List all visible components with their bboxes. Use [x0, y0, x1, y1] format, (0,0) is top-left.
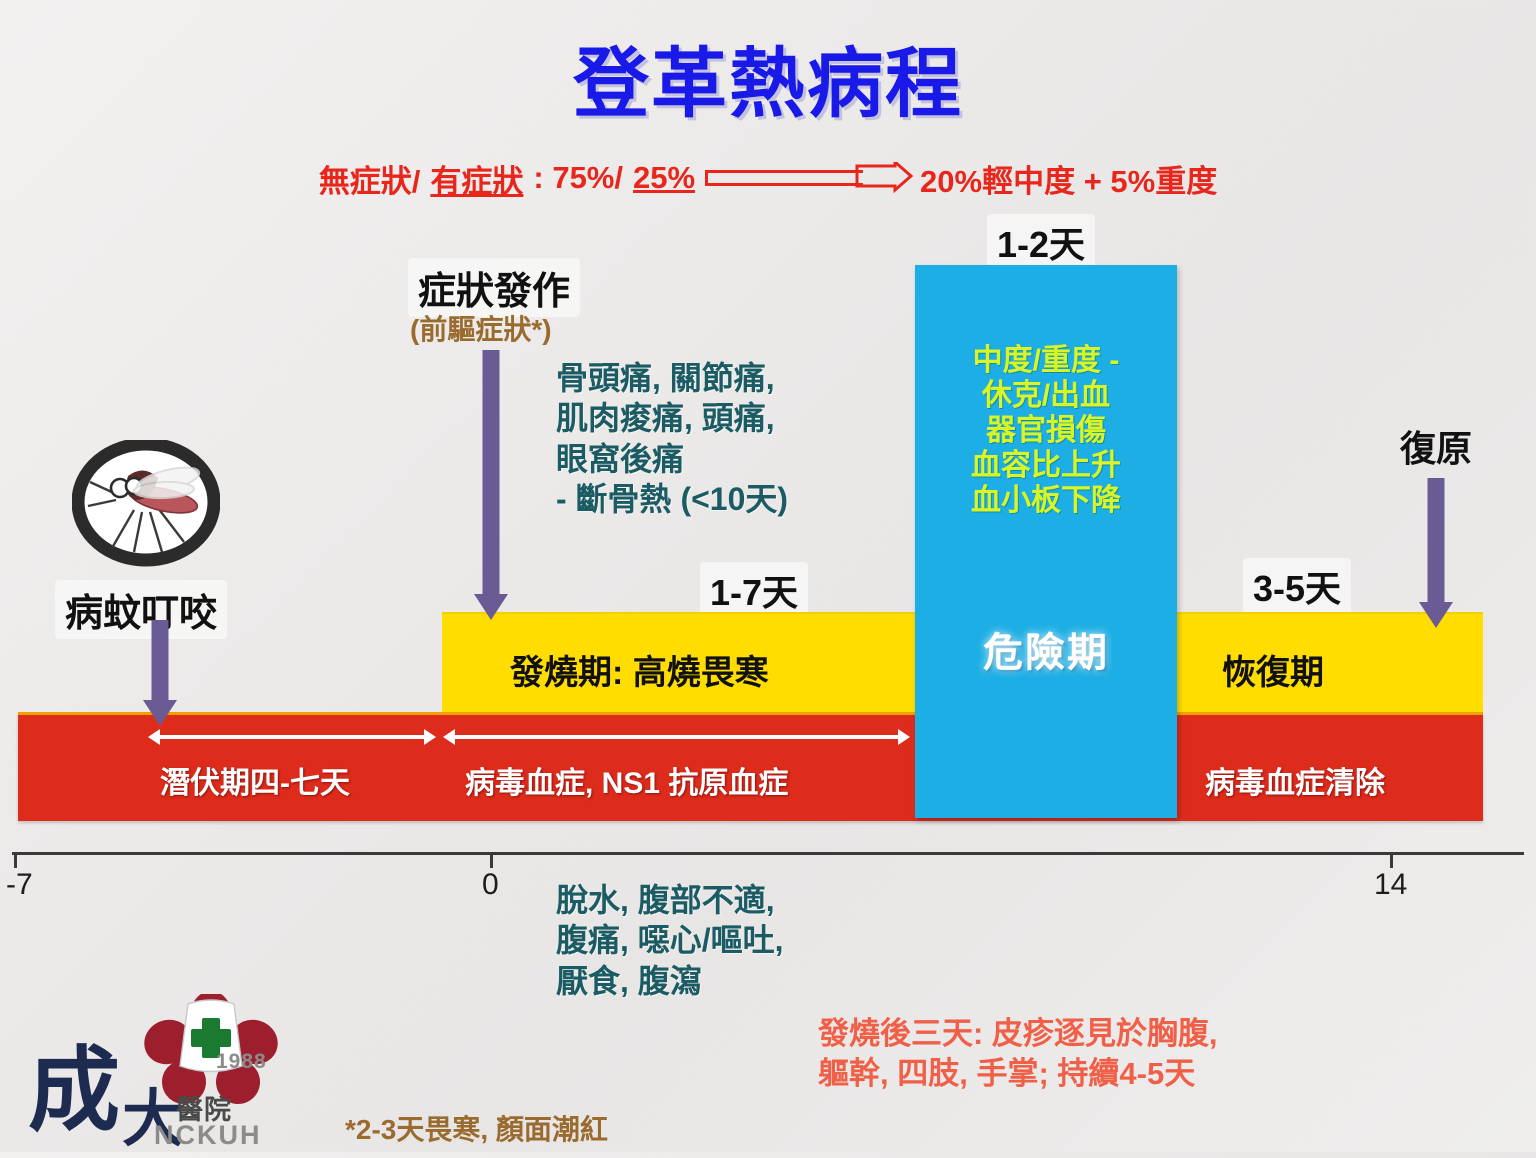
axis-label--7: -7 [6, 868, 33, 902]
ratio-text: : 75%/ [533, 160, 623, 196]
logo-year: 1988 [216, 1050, 267, 1074]
right-arrow-outline-icon [705, 164, 910, 192]
duration-febrile: 1-7天 [700, 562, 808, 618]
severity-outcome-label: 20%輕中度 + 5%重度 [920, 156, 1217, 201]
viremia-clearance-label: 病毒血症清除 [1205, 758, 1385, 802]
febrile-symptoms-text: 骨頭痛, 關節痛, 肌肉痠痛, 頭痛, 眼窩後痛 - 斷骨熱 (<10天) [556, 358, 788, 519]
duration-recovery: 3-5天 [1243, 558, 1351, 614]
prodrome-footnote: *2-3天畏寒, 顏面潮紅 [345, 1108, 608, 1148]
axis-tick-14 [1390, 852, 1393, 868]
axis-label-0: 0 [482, 868, 499, 902]
viremia-ns1-label: 病毒血症, NS1 抗原血症 [465, 758, 788, 802]
incubation-span-arrow-icon [148, 728, 436, 746]
critical-symptoms-text: 中度/重度 - 休克/出血 器官損傷 血容比上升 血小板下降 [971, 343, 1121, 518]
febrile-phase-label: 發燒期: 高燒畏寒 [510, 645, 769, 694]
axis-tick-0 [490, 852, 493, 868]
symptomatic-percent: 25% [633, 160, 695, 196]
viremia-span-arrow-icon [443, 728, 910, 746]
critical-phase-box: 中度/重度 - 休克/出血 器官損傷 血容比上升 血小板下降 危險期 [915, 265, 1177, 818]
duration-critical: 1-2天 [987, 214, 1095, 270]
onset-arrow-icon [471, 350, 511, 622]
prodrome-label: (前驅症狀*) [410, 308, 552, 348]
asymptomatic-label: 無症狀/ [319, 156, 421, 201]
gastro-symptoms-text: 脫水, 腹部不適, 腹痛, 噁心/嘔吐, 厭食, 腹瀉 [556, 880, 784, 1001]
arrow-head-shape [855, 162, 913, 194]
nckuh-logo: 成 大 1988 醫院 NCKUH [28, 1002, 288, 1148]
recovery-phase-label: 恢復期 [1222, 645, 1324, 694]
incubation-period-label: 潛伏期四-七天 [160, 758, 350, 802]
recovery-arrow-icon [1416, 478, 1456, 630]
timeline-axis [12, 852, 1524, 855]
prevalence-summary: 無症狀/有症狀: 75%/25% 20%輕中度 + 5%重度 [0, 155, 1536, 201]
symptomatic-label: 有症狀 [430, 156, 523, 201]
recovery-label: 復原 [1400, 420, 1472, 472]
bite-arrow-icon [140, 620, 180, 728]
critical-phase-label: 危險期 [983, 620, 1109, 678]
logo-char-cheng: 成 [28, 1016, 120, 1149]
mosquito-icon [72, 440, 220, 570]
page-title: 登革熱病程 [0, 22, 1536, 132]
logo-english-label: NCKUH [154, 1120, 262, 1151]
axis-label-14: 14 [1374, 868, 1407, 902]
axis-tick--7 [14, 852, 17, 868]
rash-note-text: 發燒後三天: 皮疹逐見於胸腹, 軀幹, 四肢, 手掌; 持續4-5天 [818, 1014, 1218, 1093]
